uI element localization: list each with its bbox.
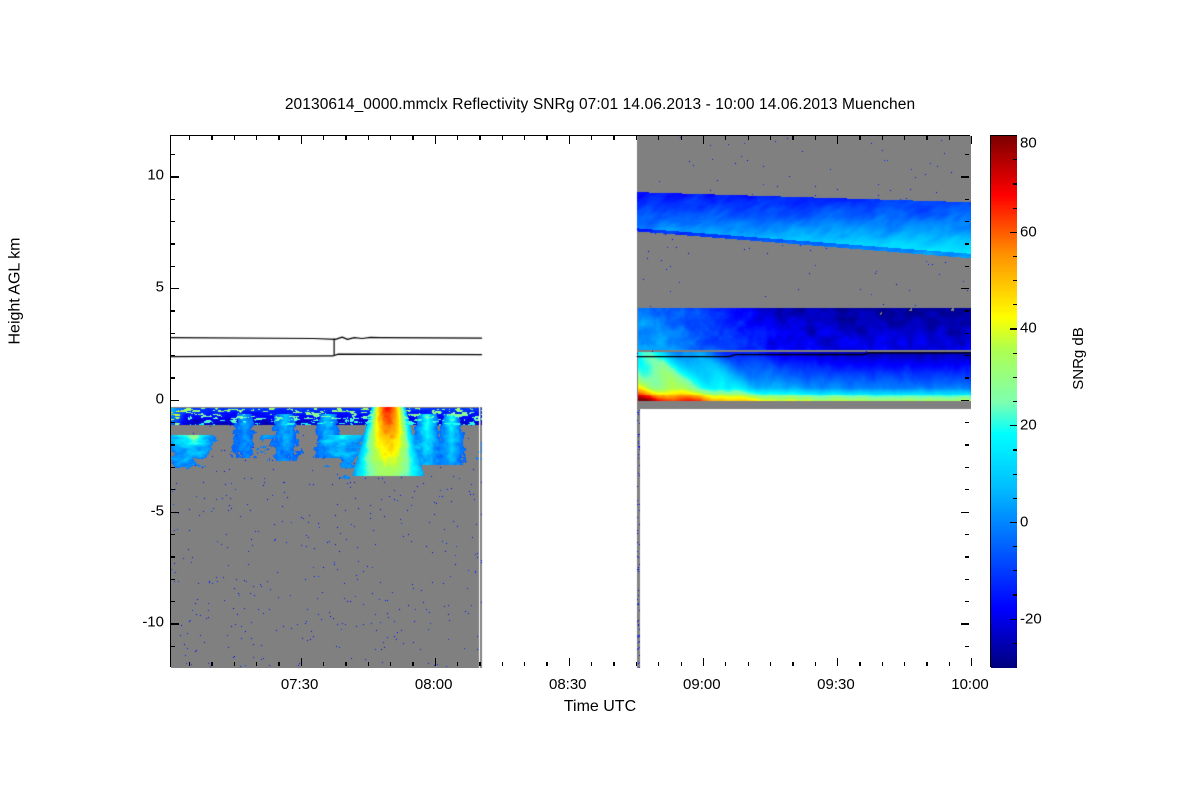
colorbar-minor-tick: [1013, 159, 1017, 160]
y-minor-tick: [171, 377, 175, 378]
x-minor-tick: [189, 136, 190, 140]
colorbar-minor-tick: [1013, 594, 1017, 595]
colorbar-minor-tick: [1013, 208, 1017, 209]
x-minor-tick: [613, 136, 614, 140]
colorbar-minor-tick: [1013, 256, 1017, 257]
y-minor-tick: [965, 422, 969, 423]
x-minor-tick: [524, 136, 525, 140]
y-minor-tick: [171, 154, 175, 155]
y-tick-label: 5: [156, 279, 164, 296]
x-axis-title: Time UTC: [0, 698, 1200, 716]
x-minor-tick: [770, 136, 771, 140]
colorbar-minor-tick: [1013, 449, 1017, 450]
x-minor-tick: [345, 662, 346, 666]
x-minor-tick: [234, 662, 235, 666]
y-major-tick: [961, 176, 969, 177]
y-minor-tick: [965, 489, 969, 490]
y-minor-tick: [965, 444, 969, 445]
x-minor-tick: [189, 662, 190, 666]
colorbar-tick-label: 40: [1020, 320, 1037, 337]
colorbar-minor-tick: [1013, 280, 1017, 281]
colorbar-minor-tick: [1013, 183, 1017, 184]
x-minor-tick: [748, 662, 749, 666]
colorbar-major-tick: [1010, 135, 1017, 136]
y-minor-tick: [965, 310, 969, 311]
x-minor-tick: [859, 662, 860, 666]
y-tick-label: 0: [156, 390, 164, 407]
plot-axes: [170, 135, 970, 667]
y-minor-tick: [171, 444, 175, 445]
y-minor-tick: [965, 333, 969, 334]
x-minor-tick: [323, 662, 324, 666]
x-minor-tick: [770, 662, 771, 666]
y-major-tick: [961, 512, 969, 513]
x-minor-tick: [591, 136, 592, 140]
colorbar-minor-tick: [1013, 401, 1017, 402]
x-minor-tick: [658, 662, 659, 666]
x-minor-tick: [546, 136, 547, 140]
radar-figure: 20130614_0000.mmclx Reflectivity SNRg 07…: [0, 0, 1200, 800]
colorbar-minor-tick: [1013, 377, 1017, 378]
y-minor-tick: [171, 355, 175, 356]
y-minor-tick: [965, 467, 969, 468]
x-major-tick: [971, 136, 972, 144]
x-minor-tick: [815, 662, 816, 666]
y-minor-tick: [965, 534, 969, 535]
x-minor-tick: [524, 662, 525, 666]
x-minor-tick: [390, 662, 391, 666]
x-minor-tick: [368, 136, 369, 140]
x-minor-tick: [725, 662, 726, 666]
x-minor-tick: [234, 136, 235, 140]
x-major-tick: [837, 136, 838, 144]
colorbar-major-tick: [1010, 328, 1017, 329]
x-minor-tick: [323, 136, 324, 140]
x-minor-tick: [591, 662, 592, 666]
x-minor-tick: [278, 136, 279, 140]
y-tick-label: 10: [147, 167, 164, 184]
y-tick-label: -10: [142, 614, 164, 631]
y-minor-tick: [965, 355, 969, 356]
x-major-tick: [971, 658, 972, 666]
x-major-tick: [703, 136, 704, 144]
y-minor-tick: [171, 310, 175, 311]
y-minor-tick: [965, 377, 969, 378]
x-minor-tick: [658, 136, 659, 140]
x-minor-tick: [211, 136, 212, 140]
y-major-tick: [961, 623, 969, 624]
y-minor-tick: [171, 467, 175, 468]
x-tick-label: 08:00: [415, 676, 453, 693]
colorbar-major-tick: [1010, 425, 1017, 426]
y-minor-tick: [171, 489, 175, 490]
colorbar-minor-tick: [1013, 546, 1017, 547]
x-minor-tick: [949, 662, 950, 666]
x-minor-tick: [457, 662, 458, 666]
x-minor-tick: [882, 662, 883, 666]
x-minor-tick: [815, 136, 816, 140]
x-minor-tick: [926, 662, 927, 666]
reflectivity-heatmap: [171, 136, 971, 668]
colorbar-minor-tick: [1013, 353, 1017, 354]
y-minor-tick: [965, 646, 969, 647]
x-major-tick: [569, 658, 570, 666]
colorbar-major-tick: [1010, 522, 1017, 523]
colorbar-major-tick: [1010, 619, 1017, 620]
x-minor-tick: [479, 662, 480, 666]
x-minor-tick: [949, 136, 950, 140]
y-minor-tick: [965, 579, 969, 580]
x-major-tick: [837, 658, 838, 666]
colorbar-ticks: [990, 135, 1016, 667]
y-minor-tick: [171, 199, 175, 200]
y-minor-tick: [171, 333, 175, 334]
x-minor-tick: [256, 662, 257, 666]
x-minor-tick: [345, 136, 346, 140]
y-minor-tick: [965, 266, 969, 267]
x-minor-tick: [904, 662, 905, 666]
x-minor-tick: [748, 136, 749, 140]
y-major-tick: [171, 623, 179, 624]
x-minor-tick: [926, 136, 927, 140]
y-minor-tick: [171, 601, 175, 602]
x-minor-tick: [502, 136, 503, 140]
y-minor-tick: [171, 221, 175, 222]
colorbar-tick-labels: -20020406080: [1020, 135, 1070, 667]
colorbar-minor-tick: [1013, 474, 1017, 475]
x-minor-tick: [390, 136, 391, 140]
colorbar-minor-tick: [1013, 498, 1017, 499]
y-major-tick: [171, 176, 179, 177]
y-major-tick: [961, 288, 969, 289]
x-minor-tick: [502, 662, 503, 666]
colorbar-tick-label: 80: [1020, 135, 1037, 152]
y-minor-tick: [965, 243, 969, 244]
x-tick-label: 09:30: [817, 676, 855, 693]
x-minor-tick: [792, 136, 793, 140]
y-major-tick: [171, 400, 179, 401]
y-minor-tick: [965, 154, 969, 155]
y-major-tick: [171, 512, 179, 513]
colorbar-tick-label: 0: [1020, 513, 1028, 530]
x-minor-tick: [479, 136, 480, 140]
colorbar-tick-label: 20: [1020, 417, 1037, 434]
y-minor-tick: [965, 199, 969, 200]
y-minor-tick: [965, 556, 969, 557]
y-axis-title: Height AGL km: [7, 237, 25, 344]
x-major-tick: [435, 136, 436, 144]
colorbar-tick-label: -20: [1020, 610, 1042, 627]
x-minor-tick: [636, 136, 637, 140]
x-minor-tick: [412, 662, 413, 666]
x-minor-tick: [412, 136, 413, 140]
x-tick-label: 09:00: [683, 676, 721, 693]
y-minor-tick: [171, 579, 175, 580]
y-minor-tick: [965, 221, 969, 222]
figure-title: 20130614_0000.mmclx Reflectivity SNRg 07…: [0, 96, 1200, 114]
y-minor-tick: [171, 422, 175, 423]
x-minor-tick: [256, 136, 257, 140]
x-minor-tick: [546, 662, 547, 666]
x-minor-tick: [904, 136, 905, 140]
x-minor-tick: [278, 662, 279, 666]
x-minor-tick: [636, 662, 637, 666]
x-minor-tick: [681, 136, 682, 140]
x-major-tick: [703, 658, 704, 666]
y-major-tick: [171, 288, 179, 289]
x-minor-tick: [725, 136, 726, 140]
y-minor-tick: [171, 646, 175, 647]
x-minor-tick: [613, 662, 614, 666]
x-major-tick: [569, 136, 570, 144]
y-tick-label: -5: [151, 502, 164, 519]
x-tick-label: 10:00: [951, 676, 989, 693]
x-minor-tick: [859, 136, 860, 140]
x-minor-tick: [457, 136, 458, 140]
y-major-tick: [961, 400, 969, 401]
colorbar-major-tick: [1010, 232, 1017, 233]
y-minor-tick: [171, 534, 175, 535]
colorbar-title: SNRg dB: [1070, 327, 1087, 390]
x-minor-tick: [681, 662, 682, 666]
x-major-tick: [301, 136, 302, 144]
y-axis-tick-labels: -10-50510: [118, 135, 164, 667]
x-tick-label: 08:30: [549, 676, 587, 693]
x-tick-label: 07:30: [281, 676, 319, 693]
colorbar-minor-tick: [1013, 643, 1017, 644]
colorbar-tick-label: 60: [1020, 223, 1037, 240]
x-minor-tick: [368, 662, 369, 666]
x-major-tick: [435, 658, 436, 666]
y-minor-tick: [171, 243, 175, 244]
x-axis-tick-labels: 07:3008:0008:3009:0009:3010:00: [170, 676, 970, 700]
colorbar-minor-tick: [1013, 570, 1017, 571]
colorbar-minor-tick: [1013, 304, 1017, 305]
y-minor-tick: [171, 556, 175, 557]
x-major-tick: [301, 658, 302, 666]
x-minor-tick: [792, 662, 793, 666]
x-minor-tick: [882, 136, 883, 140]
y-minor-tick: [965, 601, 969, 602]
x-minor-tick: [211, 662, 212, 666]
y-minor-tick: [171, 266, 175, 267]
